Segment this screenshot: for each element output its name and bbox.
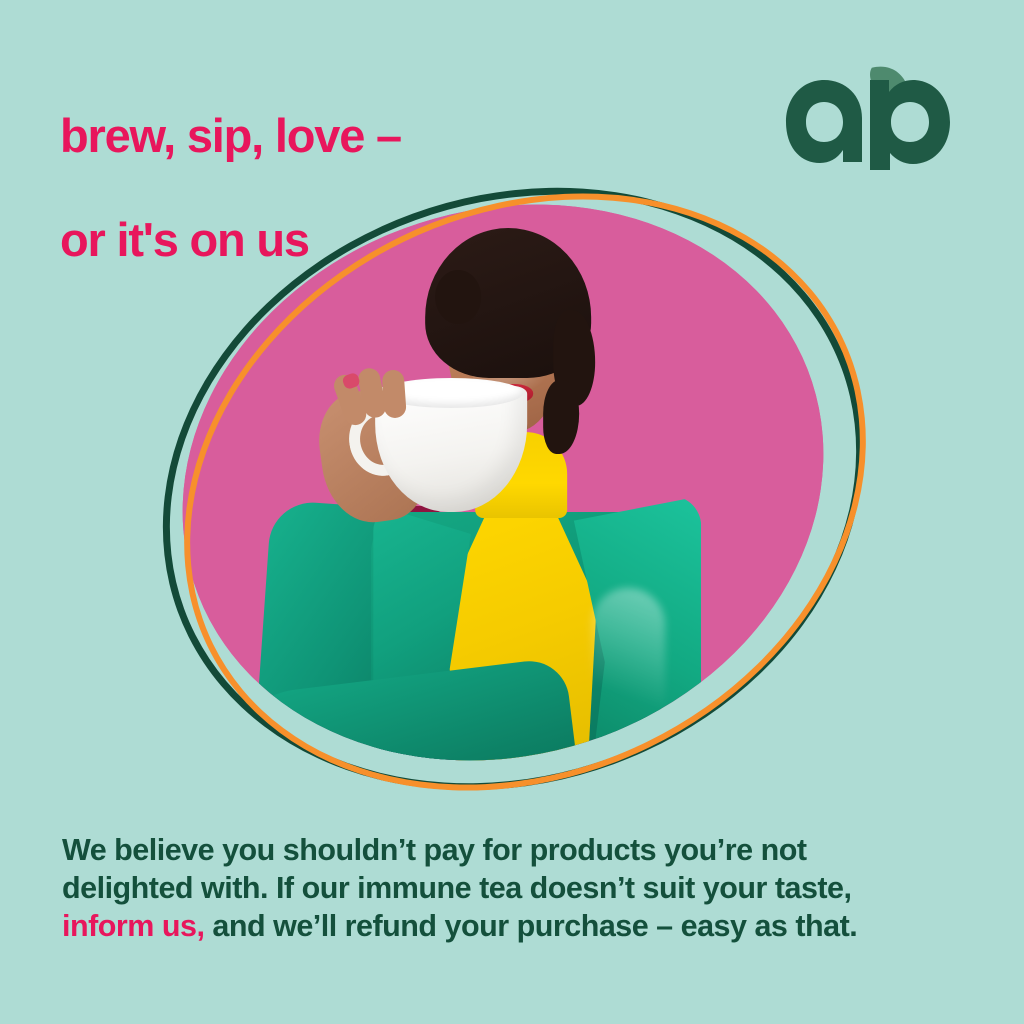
body-copy: We believe you shouldn’t pay for product… [62, 831, 902, 945]
body-copy-segment-2: and we’ll refund your purchase – easy as… [204, 909, 857, 943]
logo-letter-p [870, 80, 950, 170]
body-copy-accent[interactable]: inform us, [62, 909, 204, 943]
brand-logo[interactable] [780, 58, 956, 170]
headline-line-1: brew, sip, love – [60, 110, 700, 162]
ad-canvas: brew, sip, love – or it's on us [0, 0, 1024, 1024]
hero-section [100, 196, 924, 776]
logo-letter-a [786, 80, 862, 163]
decorative-ring-orange [83, 82, 967, 902]
body-copy-segment-1: We believe you shouldn’t pay for product… [62, 833, 852, 905]
